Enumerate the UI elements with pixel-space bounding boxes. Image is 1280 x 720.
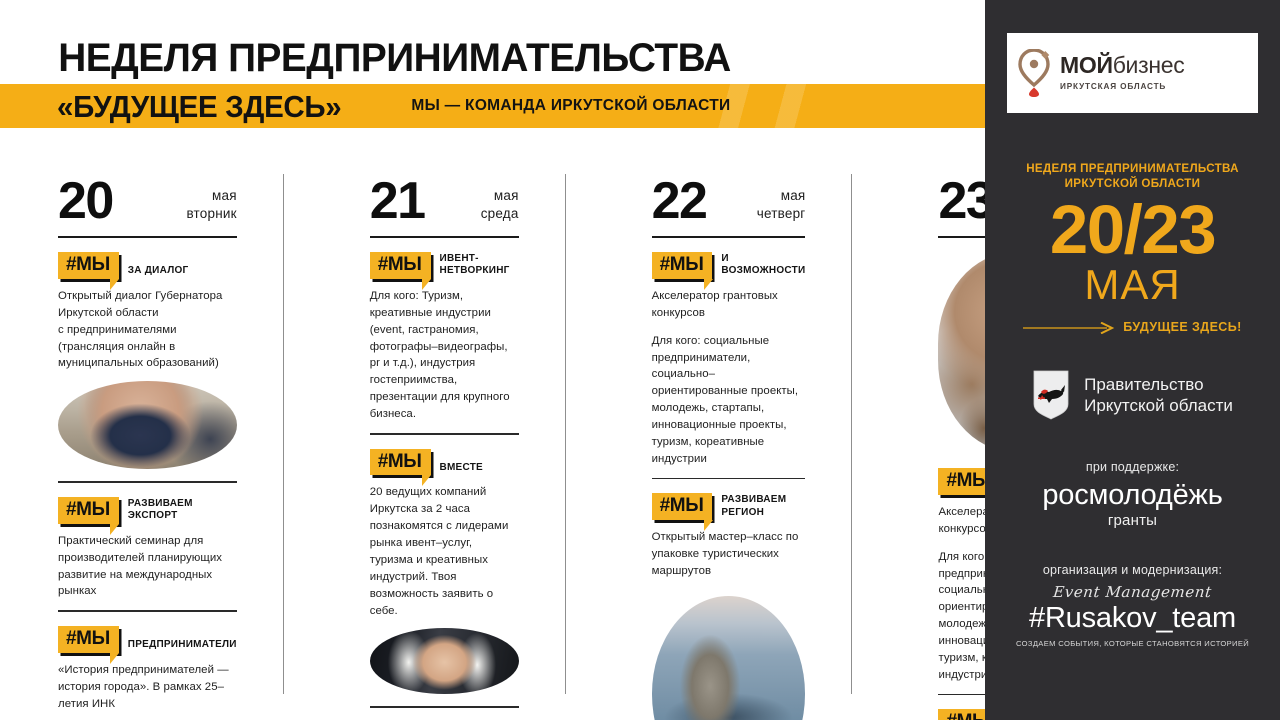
badge-label: РАЗВИВАЕМ РЕГИОН: [721, 494, 805, 520]
poster-title: НЕДЕЛЯ ПРЕДПРИНИМАТЕЛЬСТВА: [0, 0, 955, 84]
rosmolodezh-logo: росмолодёжь: [985, 481, 1280, 510]
sidebar: МОЙбизнес ИРКУТСКАЯ ОБЛАСТЬ НЕДЕЛЯ ПРЕДП…: [985, 0, 1280, 720]
column-separator: [283, 174, 284, 694]
my-badge: #МЫ: [58, 626, 119, 653]
badge-row: #МЫ ЗА ДИАЛОГ: [58, 252, 237, 279]
sidebar-month: МАЯ: [985, 264, 1280, 306]
badge-label: РАЗВИВАЕМ ЭКСПОРТ: [128, 498, 237, 524]
date-month: мая: [481, 187, 519, 205]
logo-main-light: бизнес: [1113, 52, 1185, 78]
event-block: #МЫ И ВОЗМОЖНОСТИ Акселератор грантовых …: [938, 468, 985, 684]
date-number: 22: [652, 178, 707, 226]
my-badge: #МЫ: [58, 497, 119, 524]
divider: [370, 236, 519, 238]
date-weekday: среда: [481, 205, 519, 223]
badge-row: #МЫ КОМАНДА: [938, 709, 985, 720]
date-month: мая: [186, 187, 236, 205]
event-block: #МЫ ПРЕДПРИНИМАТЕЛИ «История предпринима…: [58, 626, 237, 713]
divider: [938, 694, 985, 696]
date-header: 21 мая среда: [370, 168, 519, 226]
future-here-text: БУДУЩЕЕ ЗДЕСЬ!: [1123, 320, 1241, 334]
my-badge: #МЫ: [938, 709, 985, 720]
logo-main-line: МОЙбизнес: [1060, 52, 1184, 78]
team-meeting-photo: [938, 252, 985, 452]
my-badge: #МЫ: [370, 252, 431, 279]
date-meta: мая вторник: [186, 187, 236, 226]
divider: [370, 433, 519, 435]
event-block: #МЫ И ВОЗМОЖНОСТИ Акселератор грантовых …: [652, 252, 806, 468]
badge-row: #МЫ ИВЕНТ- НЕТВОРКИНГ: [370, 252, 519, 279]
poster-root: НЕДЕЛЯ ПРЕДПРИНИМАТЕЛЬСТВА «БУДУЩЕЕ ЗДЕС…: [0, 0, 1280, 720]
badge-row: #МЫ И ВОЗМОЖНОСТИ: [652, 252, 806, 279]
government-row: Правительство Иркутской области: [985, 370, 1280, 420]
date-month: мая: [757, 187, 806, 205]
my-badge: #МЫ: [370, 449, 431, 476]
event-block: #МЫ ЗА ДИАЛОГ Открытый диалог Губернатор…: [58, 252, 237, 469]
support-label: при поддержке:: [985, 460, 1280, 474]
badge-label: И ВОЗМОЖНОСТИ: [721, 253, 805, 279]
date-number: 20: [58, 178, 113, 226]
poster-subtitle: «БУДУЩЕЕ ЗДЕСЬ»: [0, 91, 341, 122]
logo-main-bold: МОЙ: [1060, 52, 1113, 78]
divider: [58, 481, 237, 483]
date-number: 21: [370, 178, 425, 226]
divider: [58, 236, 237, 238]
column-separator: [565, 174, 566, 694]
divider: [938, 236, 985, 238]
event-management-script: Event Management: [984, 583, 1280, 601]
day-column-23: 23 мая пятница #МЫ И ВОЗМОЖНОСТИ Акселер…: [938, 168, 985, 708]
day-column-21: 21 мая среда #МЫ ИВЕНТ- НЕТВОРКИНГ Для к…: [370, 168, 537, 708]
column-separator: [851, 174, 852, 694]
logo-wordmark: МОЙбизнес ИРКУТСКАЯ ОБЛАСТЬ: [1060, 54, 1248, 93]
date-weekday: четверг: [757, 205, 806, 223]
badge-label: ПРЕДПРИНИМАТЕЛИ: [128, 639, 237, 653]
event-text: Практический семинар для производителей …: [58, 533, 237, 601]
organizer-label: организация и модернизация:: [985, 563, 1280, 577]
my-badge: #МЫ: [58, 252, 119, 279]
event-audience: Для кого: социальные предприниматели, со…: [652, 333, 806, 468]
event-text: Акселератор грантовых конкурсов: [938, 504, 985, 538]
badge-row: #МЫ РАЗВИВАЕМ ЭКСПОРТ: [58, 497, 237, 524]
date-header: 23 мая пятница: [938, 168, 985, 226]
divider: [370, 706, 519, 708]
event-audience: Для кого: социальные предприниматели, со…: [938, 549, 985, 684]
logo-region: ИРКУТСКАЯ ОБЛАСТЬ: [1060, 82, 1166, 91]
divider: [652, 236, 806, 238]
event-text: Открытый диалог Губернатора Иркутской об…: [58, 288, 237, 372]
poster-header: НЕДЕЛЯ ПРЕДПРИНИМАТЕЛЬСТВА «БУДУЩЕЕ ЗДЕС…: [0, 0, 985, 128]
badge-row: #МЫ РАЗВИВАЕМ РЕГИОН: [652, 493, 806, 520]
event-block: #МЫ КОМАНДА День открытых дверей в центр…: [938, 709, 985, 720]
poster-tagline: МЫ — КОМАНДА ИРКУТСКОЙ ОБЛАСТИ: [411, 97, 730, 115]
badge-label: ВМЕСТЕ: [440, 462, 483, 476]
government-label: Правительство Иркутской области: [1084, 374, 1233, 417]
event-text: «История предпринимателей — история горо…: [58, 662, 237, 713]
badge-row: #МЫ ВМЕСТЕ: [370, 449, 519, 476]
my-badge: #МЫ: [652, 252, 713, 279]
divider: [58, 610, 237, 612]
arrow-right-icon: [1023, 321, 1115, 333]
event-block: #МЫ ВМЕСТЕ 20 ведущих компаний Иркутска …: [370, 449, 519, 695]
divider: [652, 478, 806, 480]
governor-photo: [58, 381, 237, 469]
my-badge: #МЫ: [652, 493, 713, 520]
future-here-row: БУДУЩЕЕ ЗДЕСЬ!: [985, 320, 1280, 334]
rosmolodezh-sub: гранты: [985, 512, 1280, 529]
main-content-area: НЕДЕЛЯ ПРЕДПРИНИМАТЕЛЬСТВА «БУДУЩЕЕ ЗДЕС…: [0, 0, 985, 720]
my-badge: #МЫ: [938, 468, 985, 495]
organizer-slogan: СОЗДАЕМ СОБЫТИЯ, КОТОРЫЕ СТАНОВЯТСЯ ИСТО…: [985, 639, 1280, 648]
day-columns: 20 мая вторник #МЫ ЗА ДИАЛОГ Открытый ди…: [0, 168, 985, 708]
handshake-photo: [370, 628, 519, 694]
day-column-20: 20 мая вторник #МЫ ЗА ДИАЛОГ Открытый ди…: [58, 168, 255, 708]
event-block: #МЫ РАЗВИВАЕМ РЕГИОН Открытый мастер–кла…: [652, 493, 806, 720]
location-pin-icon: [1017, 49, 1051, 97]
day-column-22: 22 мая четверг #МЫ И ВОЗМОЖНОСТИ Акселер…: [652, 168, 824, 708]
sidebar-kicker: НЕДЕЛЯ ПРЕДПРИНИМАТЕЛЬСТВА ИРКУТСКОЙ ОБЛ…: [985, 161, 1280, 192]
badge-label: ЗА ДИАЛОГ: [128, 265, 189, 279]
date-meta: мая среда: [481, 187, 519, 226]
event-block: #МЫ ИВЕНТ- НЕТВОРКИНГ Для кого: Туризм, …: [370, 252, 519, 423]
irkutsk-coat-of-arms-icon: [1032, 370, 1070, 420]
baikal-photo: [652, 596, 806, 720]
event-text: Для кого: Туризм, креативные индустрии (…: [370, 288, 519, 423]
badge-row: #МЫ И ВОЗМОЖНОСТИ: [938, 468, 985, 495]
rusakov-team-logo: #Rusakov_team: [985, 603, 1280, 633]
date-weekday: вторник: [186, 205, 236, 223]
date-meta: мая четверг: [757, 187, 806, 226]
badge-row: #МЫ ПРЕДПРИНИМАТЕЛИ: [58, 626, 237, 653]
event-text: Открытый мастер–класс по упаковке турист…: [652, 529, 806, 580]
badge-label: ИВЕНТ- НЕТВОРКИНГ: [440, 253, 510, 279]
event-text: 20 ведущих компаний Иркутска за 2 часа п…: [370, 484, 519, 619]
event-block: #МЫ РАЗВИВАЕМ ЭКСПОРТ Практический семин…: [58, 497, 237, 600]
sidebar-date-range: 20/23: [985, 198, 1280, 263]
header-accent-band: «БУДУЩЕЕ ЗДЕСЬ» МЫ — КОМАНДА ИРКУТСКОЙ О…: [0, 84, 985, 128]
date-number: 23: [938, 178, 985, 226]
moy-biznes-logo: МОЙбизнес ИРКУТСКАЯ ОБЛАСТЬ: [1007, 33, 1258, 113]
event-text: Акселератор грантовых конкурсов: [652, 288, 806, 322]
date-header: 20 мая вторник: [58, 168, 237, 226]
date-header: 22 мая четверг: [652, 168, 806, 226]
